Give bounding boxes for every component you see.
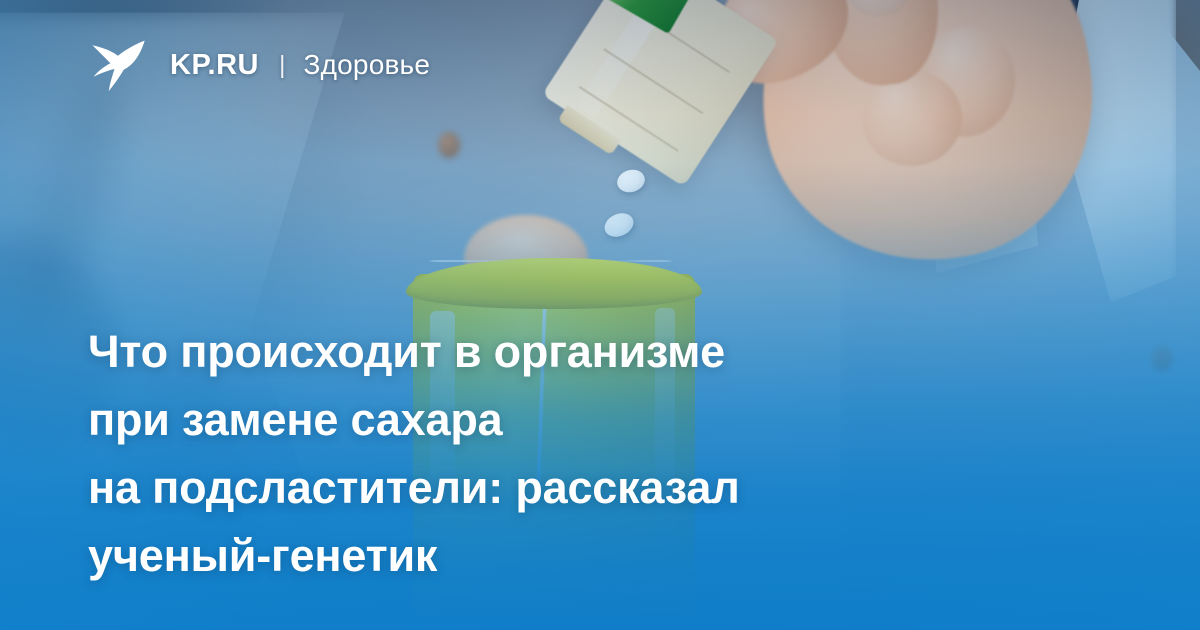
headline-line-1: Что происходит в организме [88,318,1080,386]
article-share-card: KP.RU | Здоровье Что происходит в органи… [0,0,1200,630]
headline-line-2: при замене сахара [88,386,1080,454]
headline: Что происходит в организме при замене са… [88,318,1080,590]
headline-line-3: на подсластители: рассказал [88,454,1080,522]
swallow-bird-logo-icon[interactable] [88,36,148,94]
brand-name[interactable]: KP.RU [170,51,259,80]
brand-section-label[interactable]: Здоровье [304,51,431,79]
brand-bar[interactable]: KP.RU | Здоровье [88,36,430,94]
brand-separator: | [279,53,286,78]
headline-line-4: ученый-генетик [88,522,1080,590]
